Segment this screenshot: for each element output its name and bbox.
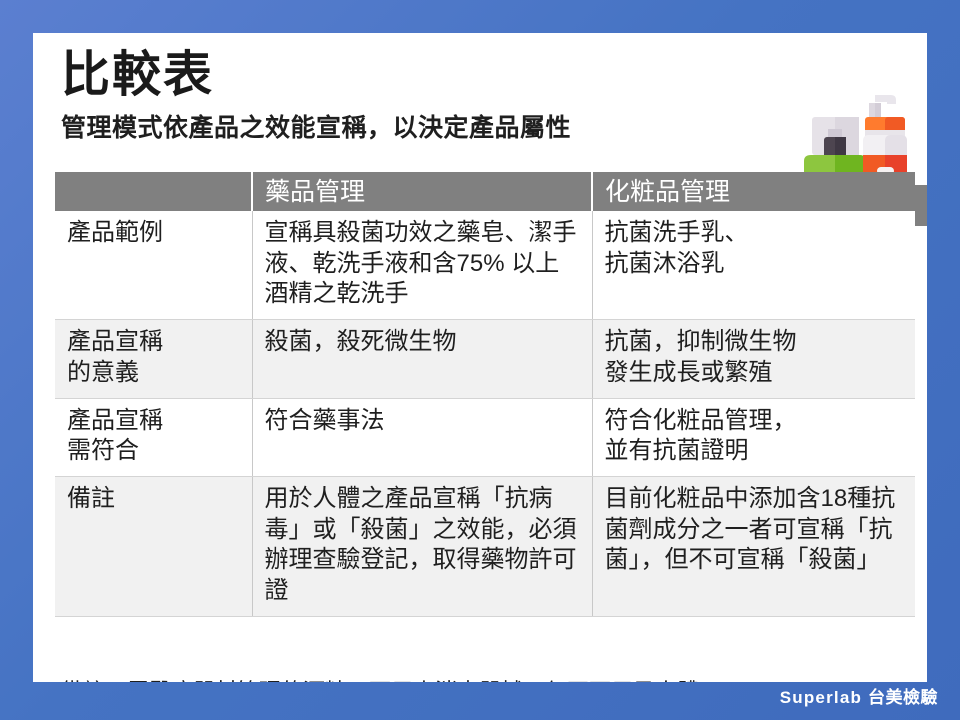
table-row: 產品範例 宣稱具殺菌功效之藥皂、潔手液、乾洗手液和含75% 以上酒精之乾洗手 抗…: [55, 211, 915, 320]
row-label-remarks: 備註: [55, 477, 252, 617]
brand-name-en: Superlab: [780, 688, 862, 707]
cell-cosmetic-remarks: 目前化粧品中添加含18種抗菌劑成分之一者可宣稱「抗菌」，但不可宣稱「殺菌」: [592, 477, 915, 617]
brand-name-cn: 台美檢驗: [868, 688, 938, 707]
comparison-table-wrapper: 藥品管理 化粧品管理 產品範例 宣稱具殺菌功效之藥皂、潔手液、乾洗手液和含75%…: [55, 172, 915, 617]
table-row: 產品宣稱 的意義 殺菌，殺死微生物 抗菌，抑制微生物 發生成長或繁殖: [55, 320, 915, 398]
cell-drug-remarks: 用於人體之產品宣稱「抗病毒」或「殺菌」之效能，必須辦理查驗登記，取得藥物許可證: [252, 477, 592, 617]
column-header-cosmetic: 化粧品管理: [592, 172, 915, 211]
page-title: 比較表: [61, 49, 571, 102]
table-row: 備註 用於人體之產品宣稱「抗病毒」或「殺菌」之效能，必須辦理查驗登記，取得藥物許…: [55, 477, 915, 617]
row-label-claim-meaning: 產品宣稱 的意義: [55, 320, 252, 398]
cell-drug-claim-compliance: 符合藥事法: [252, 398, 592, 476]
column-header-drug: 藥品管理: [252, 172, 592, 211]
slide-background: 比較表 管理模式依產品之效能宣稱，以決定產品屬性: [0, 0, 960, 720]
page-subtitle: 管理模式依產品之效能宣稱，以決定產品屬性: [61, 108, 571, 144]
content-card: 比較表 管理模式依產品之效能宣稱，以決定產品屬性: [33, 33, 927, 682]
cell-drug-product-examples: 宣稱具殺菌功效之藥皂、潔手液、乾洗手液和含75% 以上酒精之乾洗手: [252, 211, 592, 320]
cell-drug-claim-meaning: 殺菌，殺死微生物: [252, 320, 592, 398]
brand-logo: Superlab 台美檢驗: [780, 683, 938, 708]
row-label-claim-compliance: 產品宣稱 需符合: [55, 398, 252, 476]
table-body: 產品範例 宣稱具殺菌功效之藥皂、潔手液、乾洗手液和含75% 以上酒精之乾洗手 抗…: [55, 211, 915, 616]
comparison-table: 藥品管理 化粧品管理 產品範例 宣稱具殺菌功效之藥皂、潔手液、乾洗手液和含75%…: [55, 172, 915, 617]
column-header-blank: [55, 172, 252, 211]
title-block: 比較表 管理模式依產品之效能宣稱，以決定產品屬性: [61, 49, 571, 144]
row-label-product-examples: 產品範例: [55, 211, 252, 320]
table-row: 產品宣稱 需符合 符合藥事法 符合化粧品管理， 並有抗菌證明: [55, 398, 915, 476]
cell-cosmetic-product-examples: 抗菌洗手乳、 抗菌沐浴乳: [592, 211, 915, 320]
cell-cosmetic-claim-compliance: 符合化粧品管理， 並有抗菌證明: [592, 398, 915, 476]
table-header-row: 藥品管理 化粧品管理: [55, 172, 915, 211]
cell-cosmetic-claim-meaning: 抗菌，抑制微生物 發生成長或繁殖: [592, 320, 915, 398]
footnote-text: 備註：屬醫療器材管理的酒精，可用來消毒器械，但不可用予人體: [61, 674, 699, 682]
